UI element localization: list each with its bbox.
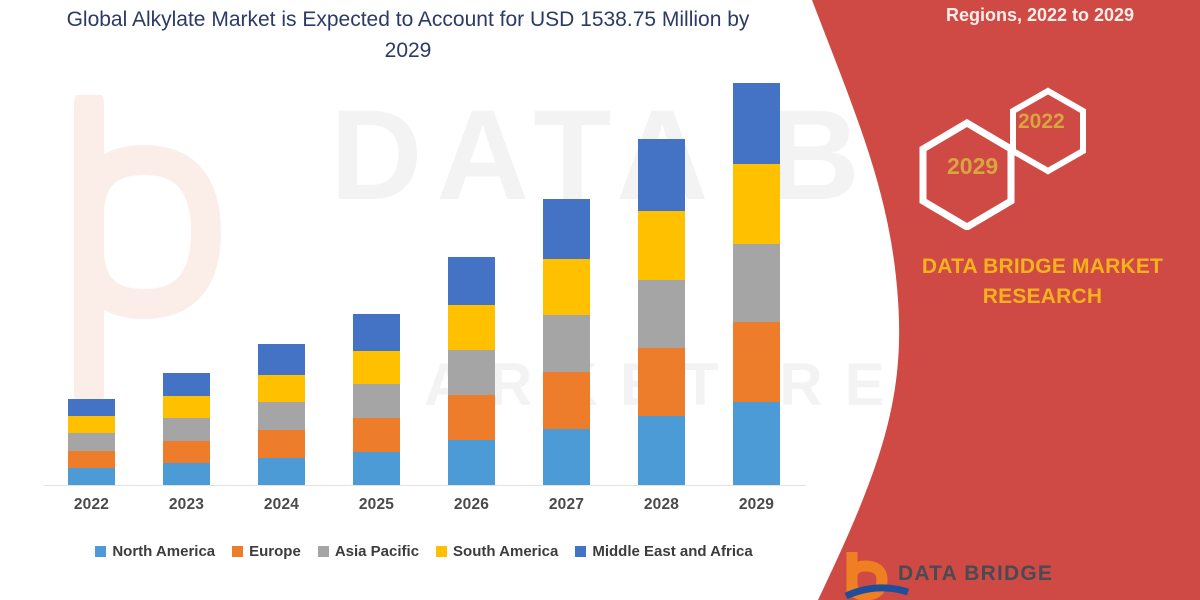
hex-badge-group: 2022 2029 — [915, 85, 1115, 230]
bar-segment-europe — [258, 430, 305, 458]
legend-item-europe[interactable]: Europe — [232, 543, 301, 560]
stacked-bar-2027[interactable] — [543, 199, 590, 485]
x-axis-label-2025: 2025 — [329, 496, 424, 522]
bar-segment-south-america — [448, 305, 495, 350]
chart-legend: North AmericaEuropeAsia PacificSouth Ame… — [44, 538, 804, 564]
bar-segment-europe — [448, 395, 495, 441]
legend-item-middle-east-and-africa[interactable]: Middle East and Africa — [575, 543, 752, 560]
bar-segment-south-america — [68, 416, 115, 433]
legend-swatch-asia-pacific — [318, 546, 329, 557]
bar-column-2029 — [709, 80, 804, 485]
bar-segment-asia-pacific — [258, 402, 305, 429]
stacked-bar-2022[interactable] — [68, 399, 115, 485]
bar-column-2022 — [44, 80, 139, 485]
footer-logo: DATA BRIDGE — [838, 552, 1178, 600]
bar-segment-south-america — [163, 396, 210, 418]
bar-segment-north-america — [638, 416, 685, 485]
infographic-canvas: DATA BRIDGE MARKET RESEARCH Global Alkyl… — [0, 0, 1200, 600]
hex-badge-2029-label: 2029 — [947, 153, 998, 180]
bar-segment-europe — [543, 372, 590, 429]
legend-label-middle-east-and-africa: Middle East and Africa — [592, 543, 752, 560]
bar-segment-europe — [353, 418, 400, 452]
right-panel-heading: Regions, 2022 to 2029 — [885, 2, 1195, 28]
x-axis-label-2029: 2029 — [709, 496, 804, 522]
bar-segment-north-america — [68, 468, 115, 485]
x-axis-label-2028: 2028 — [614, 496, 709, 522]
bar-segment-asia-pacific — [638, 280, 685, 348]
legend-item-south-america[interactable]: South America — [436, 543, 558, 560]
bar-segment-asia-pacific — [448, 350, 495, 395]
legend-swatch-south-america — [436, 546, 447, 557]
hex-badge-2022-label: 2022 — [1018, 110, 1065, 134]
bar-segment-asia-pacific — [353, 384, 400, 417]
stacked-bar-2024[interactable] — [258, 344, 305, 485]
bar-segment-north-america — [258, 458, 305, 485]
x-axis-label-2027: 2027 — [519, 496, 614, 522]
bar-segment-middle-east-and-africa — [543, 199, 590, 260]
legend-label-europe: Europe — [249, 543, 301, 560]
bar-segment-north-america — [353, 452, 400, 485]
bar-segment-middle-east-and-africa — [68, 399, 115, 416]
bar-segment-middle-east-and-africa — [163, 373, 210, 396]
bar-segment-middle-east-and-africa — [353, 314, 400, 351]
bar-segment-asia-pacific — [68, 433, 115, 450]
bar-segment-middle-east-and-africa — [448, 257, 495, 305]
bar-segment-south-america — [733, 164, 780, 244]
page-title: Global Alkylate Market is Expected to Ac… — [58, 4, 758, 66]
stacked-bar-2023[interactable] — [163, 373, 210, 485]
bar-segment-europe — [733, 322, 780, 402]
bar-segment-south-america — [258, 375, 305, 402]
legend-label-south-america: South America — [453, 543, 558, 560]
bar-column-2026 — [424, 80, 519, 485]
bar-column-2025 — [329, 80, 424, 485]
x-axis-label-2024: 2024 — [234, 496, 329, 522]
bar-segment-middle-east-and-africa — [638, 139, 685, 211]
bar-segment-south-america — [638, 211, 685, 280]
bar-segment-asia-pacific — [163, 418, 210, 440]
brand-title: DATA BRIDGE MARKET RESEARCH — [890, 252, 1195, 312]
x-axis-label-2023: 2023 — [139, 496, 234, 522]
legend-label-asia-pacific: Asia Pacific — [335, 543, 419, 560]
bar-segment-europe — [68, 451, 115, 468]
bar-segment-middle-east-and-africa — [733, 83, 780, 164]
bar-segment-north-america — [733, 402, 780, 485]
bar-segment-north-america — [163, 463, 210, 485]
bar-segment-asia-pacific — [543, 315, 590, 371]
bar-segment-north-america — [543, 429, 590, 485]
legend-item-north-america[interactable]: North America — [95, 543, 215, 560]
bar-segment-middle-east-and-africa — [258, 344, 305, 375]
bar-segment-europe — [638, 348, 685, 417]
stacked-bar-2028[interactable] — [638, 139, 685, 485]
stacked-bar-2026[interactable] — [448, 257, 495, 485]
stacked-bar-2025[interactable] — [353, 314, 400, 485]
bar-column-2023 — [139, 80, 234, 485]
bar-segment-south-america — [353, 351, 400, 384]
legend-item-asia-pacific[interactable]: Asia Pacific — [318, 543, 419, 560]
x-axis-line — [44, 485, 806, 486]
bar-column-2028 — [614, 80, 709, 485]
bar-segment-south-america — [543, 259, 590, 315]
footer-logo-text: DATA BRIDGE — [898, 562, 1053, 586]
bar-segment-europe — [163, 441, 210, 463]
bar-column-2027 — [519, 80, 614, 485]
x-axis-labels: 20222023202420252026202720282029 — [44, 496, 804, 522]
bar-column-2024 — [234, 80, 329, 485]
legend-swatch-middle-east-and-africa — [575, 546, 586, 557]
bar-segment-asia-pacific — [733, 244, 780, 322]
stacked-bar-2029[interactable] — [733, 83, 780, 485]
legend-swatch-north-america — [95, 546, 106, 557]
stacked-bar-chart — [44, 80, 804, 485]
bar-segment-north-america — [448, 440, 495, 485]
x-axis-label-2026: 2026 — [424, 496, 519, 522]
legend-label-north-america: North America — [112, 543, 215, 560]
legend-swatch-europe — [232, 546, 243, 557]
x-axis-label-2022: 2022 — [44, 496, 139, 522]
